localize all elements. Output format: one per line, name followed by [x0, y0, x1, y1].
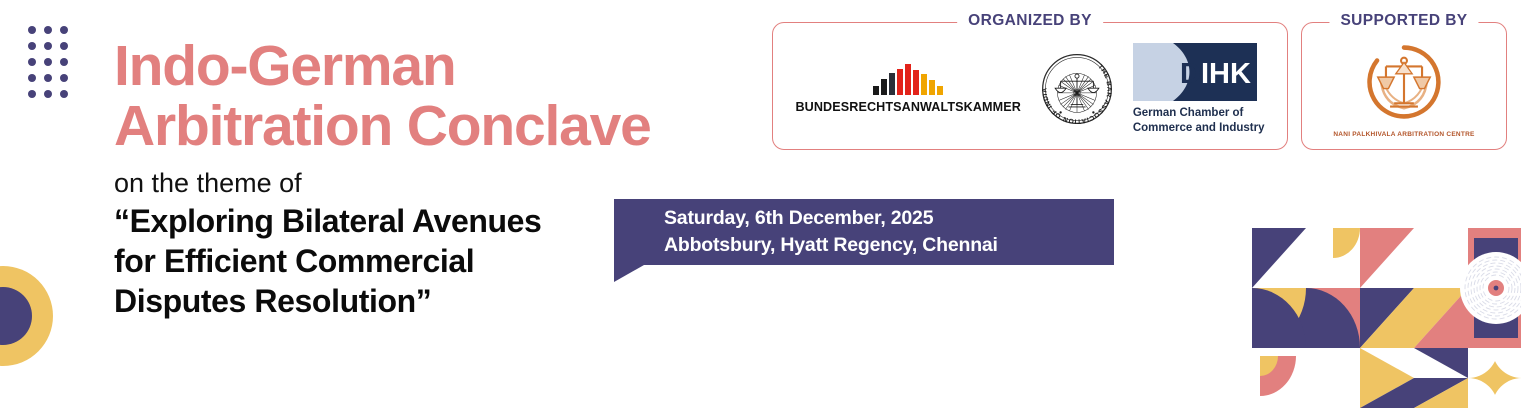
organized-by-panel: ORGANIZED BY BUNDESRECHTSANWALTSKAMMER T… — [772, 22, 1288, 150]
dot — [44, 74, 52, 82]
dot — [28, 42, 36, 50]
corner-ring-decoration — [0, 266, 53, 366]
brak-bar — [897, 69, 903, 95]
svg-text:IHK: IHK — [1201, 58, 1251, 90]
npac-logo: NANI PALKHIVALA ARBITRATION CENTRE — [1333, 41, 1474, 138]
supported-by-label: SUPPORTED BY — [1329, 12, 1478, 30]
dot — [28, 74, 36, 82]
banner-tail-decoration — [614, 265, 644, 282]
dot — [60, 26, 68, 34]
dot — [28, 58, 36, 66]
dihk-logo: D IHK German Chamber of Commerce and Ind… — [1133, 43, 1265, 134]
svg-text:D: D — [1180, 58, 1201, 90]
dot — [60, 90, 68, 98]
brak-logo-name: BUNDESRECHTSANWALTSKAMMER — [795, 100, 1020, 114]
dot — [28, 90, 36, 98]
organized-by-label: ORGANIZED BY — [957, 12, 1103, 30]
dot — [44, 42, 52, 50]
brak-bar — [929, 80, 935, 95]
npac-scales-icon — [1363, 41, 1445, 128]
theme-intro-label: on the theme of — [114, 168, 754, 199]
geometric-pattern-decoration — [1252, 228, 1521, 408]
brak-bar — [937, 86, 943, 95]
brak-bar — [873, 86, 879, 95]
dot — [28, 26, 36, 34]
brak-bar — [889, 73, 895, 95]
dihk-logo-name: German Chamber of Commerce and Industry — [1133, 106, 1265, 134]
dot — [60, 58, 68, 66]
dot — [44, 90, 52, 98]
dihk-mark-icon: D IHK — [1133, 43, 1257, 101]
brak-bar — [913, 70, 919, 95]
supported-logo-row: NANI PALKHIVALA ARBITRATION CENTRE — [1302, 23, 1506, 149]
dot — [44, 26, 52, 34]
bar-association-of-india-seal-icon: THE BAR ASSOCIATION OF INDIA सत्यमेव जयत… — [1038, 50, 1116, 128]
dot — [44, 58, 52, 66]
corner-ring-inner-circle — [0, 287, 32, 345]
dot — [60, 74, 68, 82]
brak-bars-icon — [873, 64, 943, 95]
dot — [60, 42, 68, 50]
dot-grid-decoration — [28, 26, 76, 106]
npac-logo-name: NANI PALKHIVALA ARBITRATION CENTRE — [1333, 131, 1474, 138]
date-venue-banner: Saturday, 6th December, 2025 Abbotsbury,… — [614, 199, 1114, 265]
brak-bar — [905, 64, 911, 95]
brak-bar — [881, 79, 887, 95]
supported-by-panel: SUPPORTED BY — [1301, 22, 1507, 150]
event-venue: Abbotsbury, Hyatt Regency, Chennai — [664, 232, 1114, 259]
brak-bar — [921, 74, 927, 95]
event-date: Saturday, 6th December, 2025 — [664, 205, 1114, 232]
brak-logo: BUNDESRECHTSANWALTSKAMMER — [795, 64, 1020, 114]
event-title: Indo-German Arbitration Conclave — [114, 36, 754, 157]
organized-logo-row: BUNDESRECHTSANWALTSKAMMER THE BAR ASSOCI… — [773, 23, 1287, 149]
headline-block: Indo-German Arbitration Conclave on the … — [114, 36, 754, 321]
